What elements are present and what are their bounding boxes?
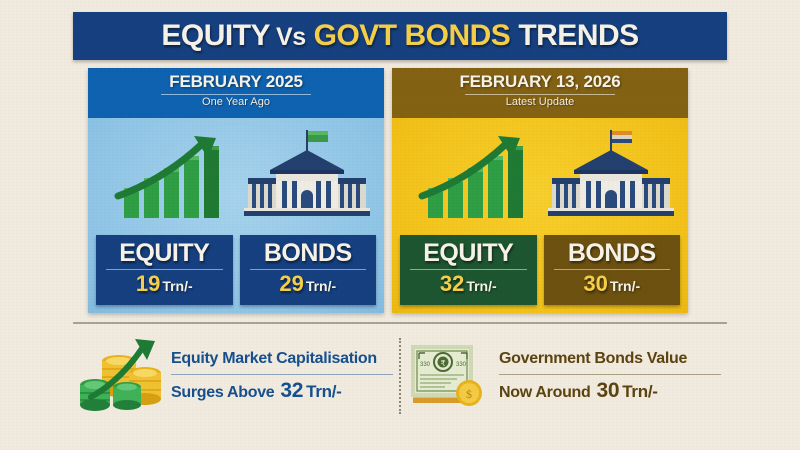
coin-stacks-growth-icon: [79, 335, 165, 417]
footer-equity-rule: [171, 374, 393, 375]
infographic-root: EQUITYVsGOVT BONDSTRENDS FEBRUARY 2025 O…: [0, 0, 800, 450]
footer-bonds-headline: Government Bonds Value: [499, 349, 721, 369]
footer-divider-rule: [73, 322, 727, 324]
panel-right-metrics: EQUITY 32Trn/- BONDS 30Trn/-: [400, 235, 680, 305]
panel-left-header: FEBRUARY 2025 One Year Ago: [88, 68, 384, 118]
footer-bonds-prefix: Now Around: [499, 384, 591, 401]
metric-label: BONDS: [244, 240, 373, 267]
svg-text:$: $: [466, 387, 472, 401]
footer-equity-subline: Surges Above32Trn/-: [171, 380, 393, 403]
panel-february-13-2026[interactable]: FEBRUARY 13, 2026 Latest Update: [392, 68, 688, 313]
panel-february-2025[interactable]: FEBRUARY 2025 One Year Ago: [88, 68, 384, 313]
metric-plate-bonds-right[interactable]: BONDS 30Trn/-: [544, 235, 681, 305]
footer-bonds-subline: Now Around30Trn/-: [499, 380, 721, 403]
metric-rule: [410, 269, 527, 270]
bond-certificate-icon: ₹ 330 330 $: [407, 335, 493, 417]
metric-value: 30: [583, 271, 607, 296]
metric-plate-bonds-left[interactable]: BONDS 29Trn/-: [240, 235, 377, 305]
metric-label: EQUITY: [404, 240, 533, 267]
metric-plate-equity-left[interactable]: EQUITY 19Trn/-: [96, 235, 233, 305]
panel-right-subtitle: Latest Update: [392, 96, 688, 109]
metric-value-row: 30Trn/-: [548, 273, 677, 298]
footer-bonds-rule: [499, 374, 721, 375]
footer: Equity Market Capitalisation Surges Abov…: [73, 330, 727, 422]
panel-right-header-rule: [465, 94, 615, 95]
footer-bonds-unit: Trn/-: [622, 382, 657, 401]
bar-chart-growth-icon: [98, 126, 238, 222]
title-part-trends: TRENDS: [518, 19, 638, 52]
footer-equity-unit: Trn/-: [306, 382, 341, 401]
footer-equity-headline: Equity Market Capitalisation: [171, 349, 393, 369]
metric-unit: Trn/-: [610, 278, 640, 294]
metric-label: BONDS: [548, 240, 677, 267]
panel-right-body: EQUITY 32Trn/- BONDS 30Trn/-: [392, 118, 688, 313]
footer-equity-text: Equity Market Capitalisation Surges Abov…: [165, 349, 393, 403]
metric-value: 19: [136, 271, 160, 296]
metric-value: 29: [279, 271, 303, 296]
panel-left-metrics: EQUITY 19Trn/- BONDS 29Trn/-: [96, 235, 376, 305]
metric-unit: Trn/-: [306, 278, 336, 294]
panel-left-body: EQUITY 19Trn/- BONDS 29Trn/-: [88, 118, 384, 313]
footer-bonds-value: 30: [597, 379, 620, 402]
metric-plate-equity-right[interactable]: EQUITY 32Trn/-: [400, 235, 537, 305]
government-building-icon: [240, 126, 378, 222]
panel-left-header-rule: [161, 94, 311, 95]
svg-text:330: 330: [456, 362, 467, 368]
title-part-equity: EQUITY: [161, 19, 270, 52]
footer-bonds-text: Government Bonds Value Now Around30Trn/-: [493, 349, 721, 403]
metric-unit: Trn/-: [162, 278, 192, 294]
page-title-bar: EQUITYVsGOVT BONDSTRENDS: [73, 12, 727, 60]
footer-item-equity[interactable]: Equity Market Capitalisation Surges Abov…: [73, 330, 399, 422]
svg-text:330: 330: [420, 362, 431, 368]
metric-rule: [554, 269, 671, 270]
title-part-vs: Vs: [276, 23, 306, 51]
page-title: EQUITYVsGOVT BONDSTRENDS: [161, 19, 638, 53]
svg-text:₹: ₹: [440, 359, 445, 368]
metric-value-row: 19Trn/-: [100, 273, 229, 298]
bar-chart-growth-icon: [402, 126, 542, 222]
panel-left-subtitle: One Year Ago: [88, 96, 384, 109]
metric-rule: [250, 269, 367, 270]
footer-item-bonds[interactable]: ₹ 330 330 $ Government Bonds Value: [401, 330, 727, 422]
metric-label: EQUITY: [100, 240, 229, 267]
panel-right-date: FEBRUARY 13, 2026: [392, 72, 688, 92]
panel-right-header: FEBRUARY 13, 2026 Latest Update: [392, 68, 688, 118]
metric-rule: [106, 269, 223, 270]
metric-value: 32: [440, 271, 464, 296]
title-part-govt-bonds: GOVT BONDS: [314, 19, 511, 52]
metric-unit: Trn/-: [466, 278, 496, 294]
government-building-icon: [544, 126, 682, 222]
metric-value-row: 29Trn/-: [244, 273, 373, 298]
panel-left-date: FEBRUARY 2025: [88, 72, 384, 92]
footer-equity-value: 32: [280, 379, 303, 402]
metric-value-row: 32Trn/-: [404, 273, 533, 298]
footer-equity-prefix: Surges Above: [171, 384, 274, 401]
